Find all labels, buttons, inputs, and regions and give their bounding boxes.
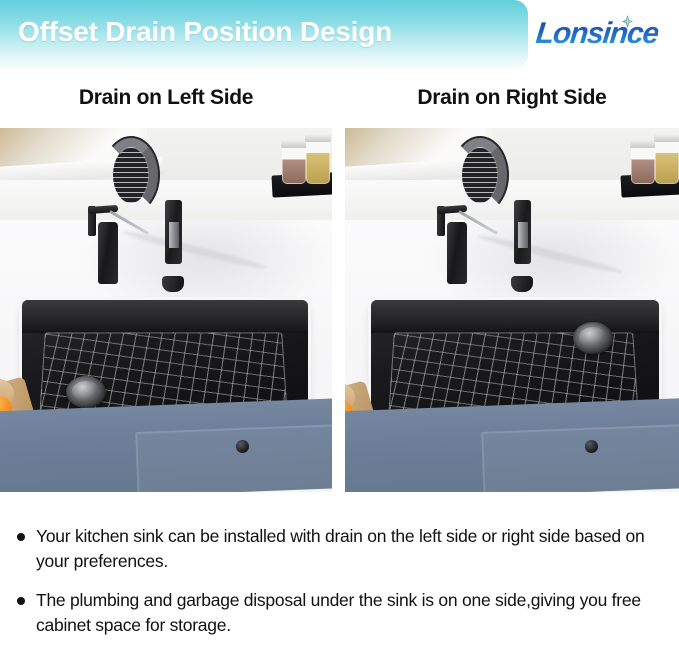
column-heading-left: Drain on Left Side: [0, 86, 332, 110]
faucet-coil-highlight: [104, 138, 158, 212]
product-photo-drain-right: [345, 128, 679, 492]
brand-logo-text: Lonsince: [534, 14, 660, 54]
spice-jar-lid: [630, 140, 656, 148]
base-cabinet: [0, 398, 332, 492]
spice-jar: [655, 140, 679, 184]
bullet-text: The plumbing and garbage disposal under …: [36, 588, 679, 638]
sink-drain-left: [66, 376, 106, 408]
bullet-item: Your kitchen sink can be installed with …: [0, 524, 679, 574]
sink-back-wall: [371, 300, 659, 333]
cabinet-knob: [585, 440, 598, 453]
column-heading-right: Drain on Right Side: [345, 86, 679, 110]
product-photo-drain-left: [0, 128, 332, 492]
faucet-sprayer-head: [511, 276, 533, 292]
faucet-sprayer-head: [162, 276, 184, 292]
sink-back-wall: [22, 300, 308, 333]
faucet-body: [447, 222, 467, 284]
spice-jar: [631, 146, 655, 184]
feature-bullet-list: Your kitchen sink can be installed with …: [0, 524, 679, 652]
faucet-spout-glass: [518, 222, 528, 248]
kitchen-faucet: [88, 136, 184, 284]
bullet-text: Your kitchen sink can be installed with …: [36, 524, 679, 574]
brand-logo: Lonsince: [536, 14, 676, 58]
spice-jar: [282, 146, 306, 184]
header-banner: Offset Drain Position Design Lonsince: [0, 0, 679, 70]
spice-jar-lid: [281, 140, 307, 148]
spice-jar-lid: [305, 134, 331, 142]
sink-drain-right: [573, 322, 613, 354]
bullet-dot-icon: [17, 597, 25, 605]
kitchen-faucet: [437, 136, 533, 284]
cabinet-door-panel: [481, 424, 679, 492]
faucet-spout-glass: [169, 222, 179, 248]
spice-jar-lid: [654, 134, 679, 142]
spice-jar: [306, 140, 330, 184]
bullet-dot-icon: [17, 533, 25, 541]
cabinet-door-panel: [135, 424, 332, 492]
page-title: Offset Drain Position Design: [18, 16, 518, 48]
faucet-body: [98, 222, 118, 284]
base-cabinet: [345, 398, 679, 492]
bullet-item: The plumbing and garbage disposal under …: [0, 588, 679, 638]
faucet-coil-highlight: [453, 138, 507, 212]
logo-sparkle-icon: [622, 15, 633, 28]
cabinet-knob: [236, 440, 249, 453]
